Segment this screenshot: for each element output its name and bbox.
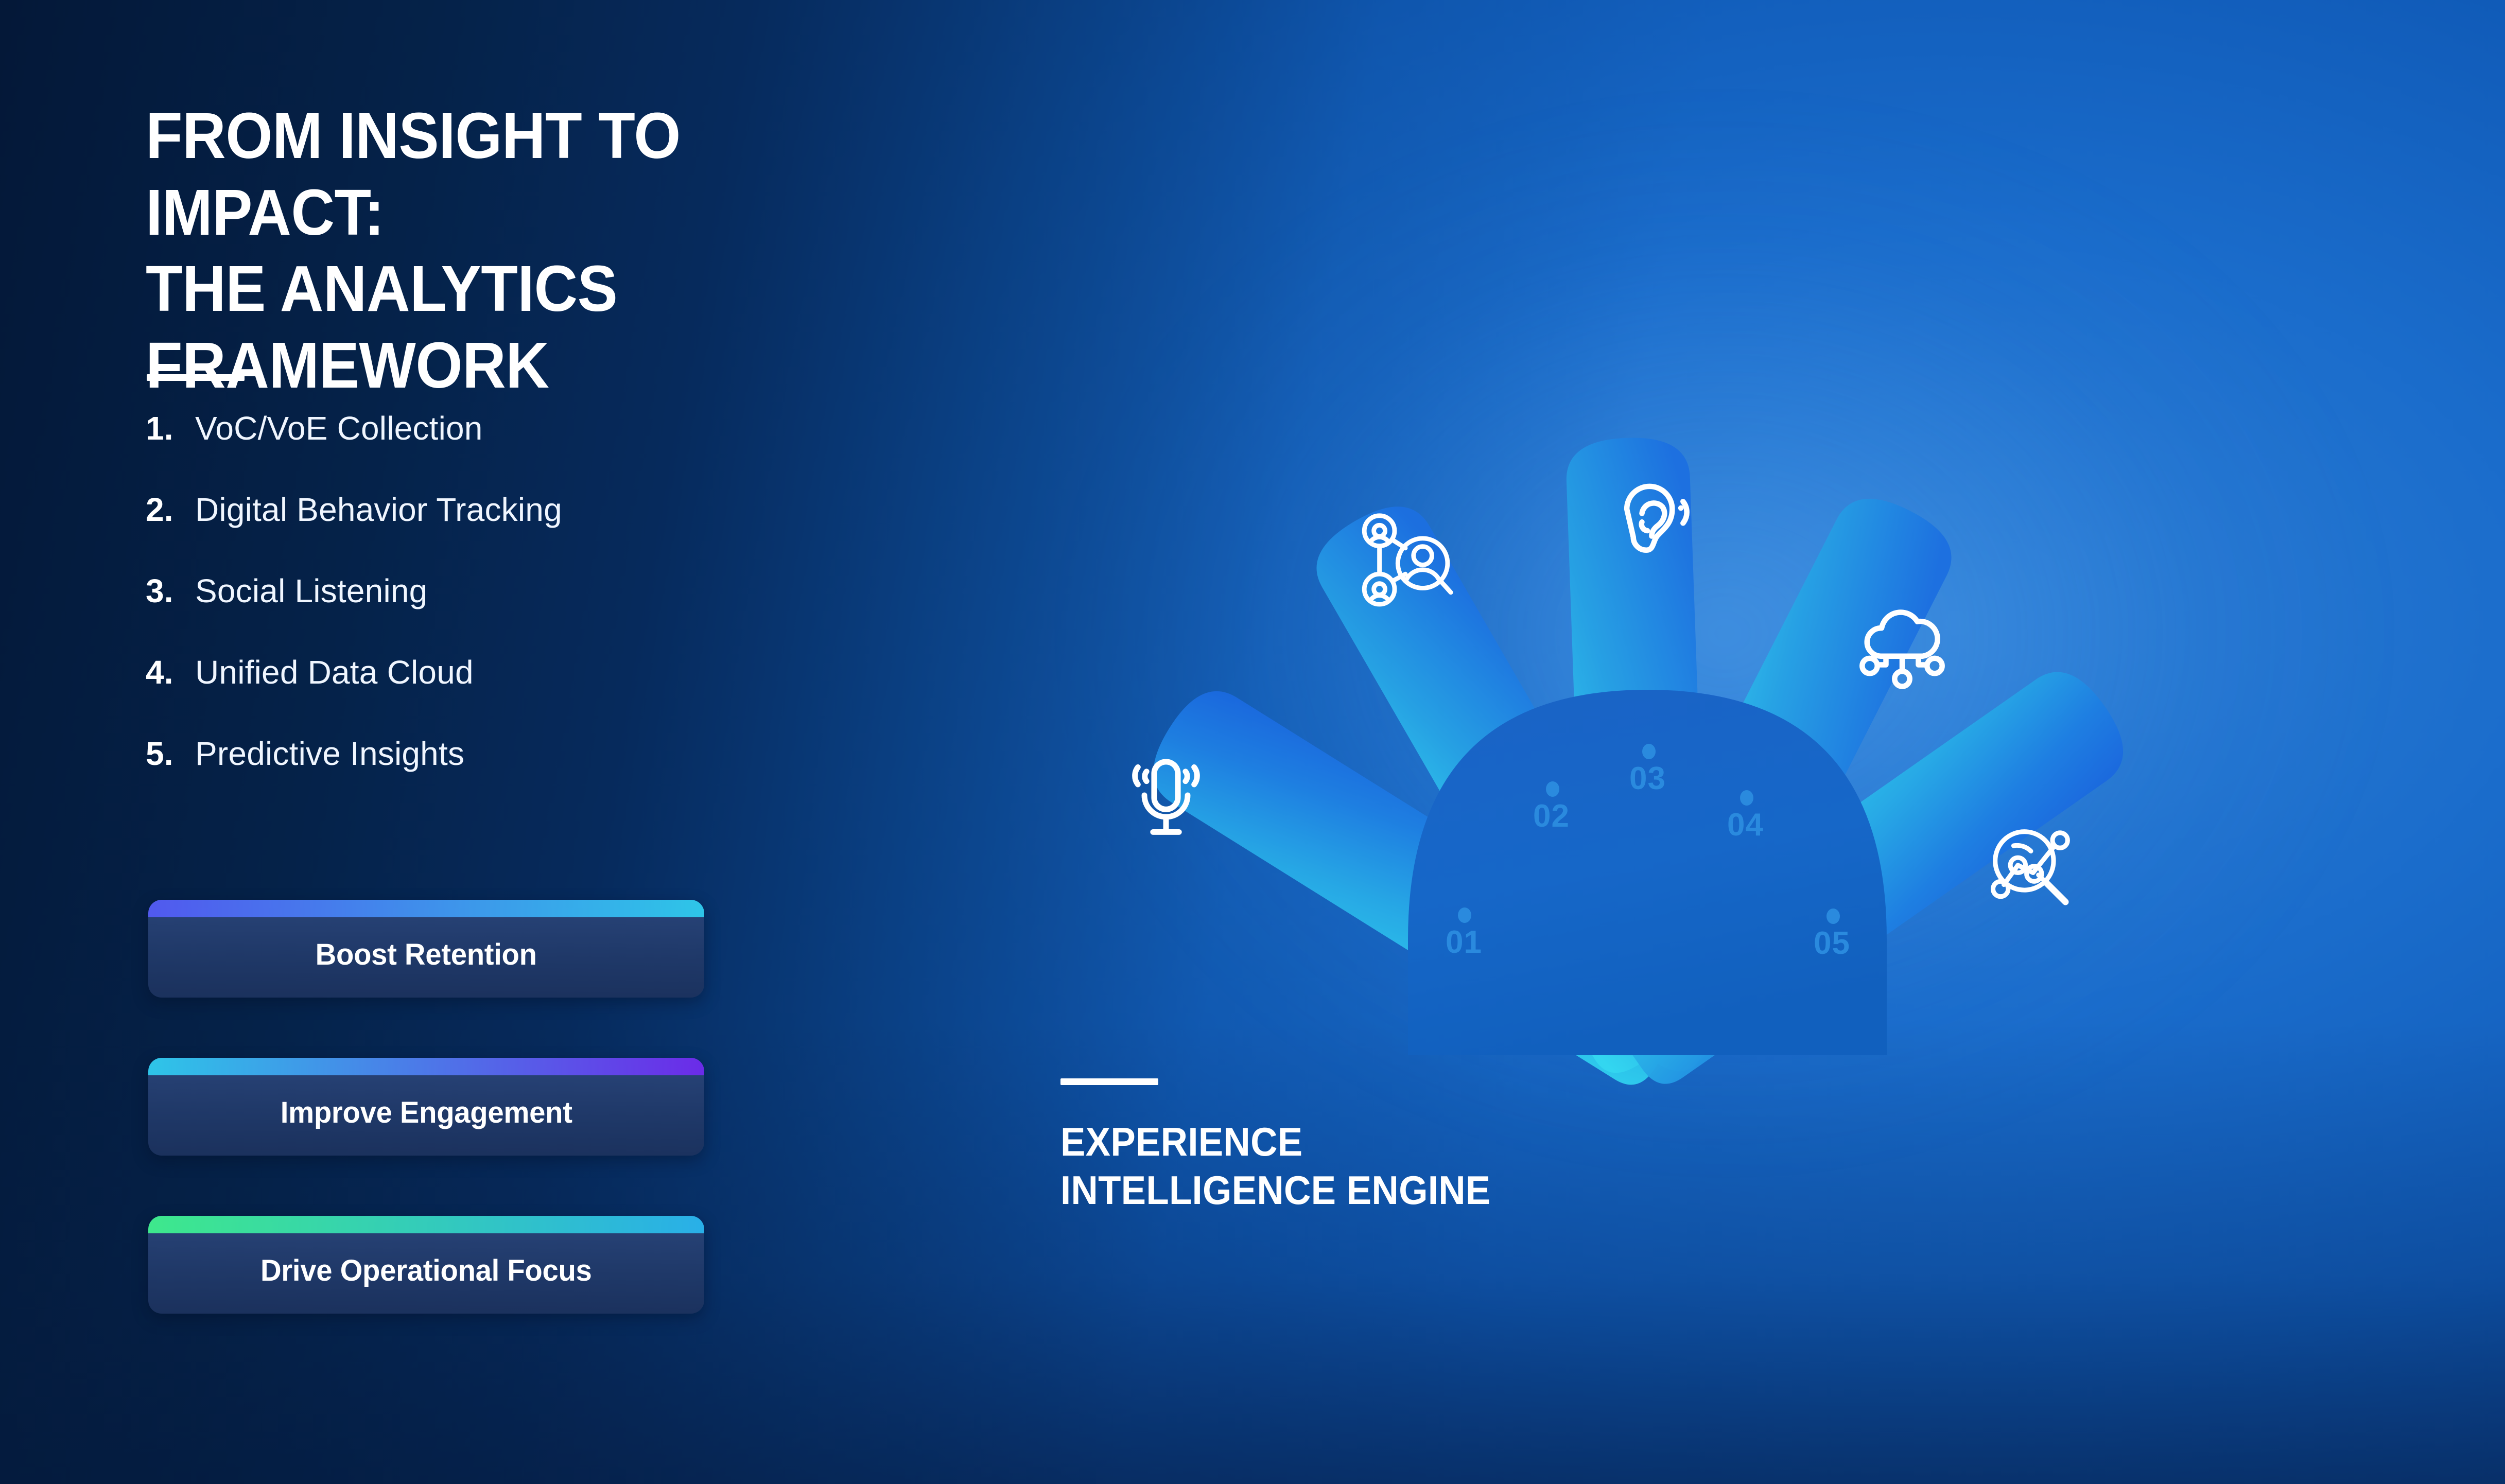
- segment-number-05: 05: [1814, 925, 1850, 962]
- card-drive-operational-focus[interactable]: Drive Operational Focus: [148, 1216, 704, 1314]
- list-item-label: Predictive Insights: [195, 735, 464, 773]
- list-item-number: 1.: [146, 409, 186, 447]
- list-item-label: Digital Behavior Tracking: [195, 491, 562, 529]
- card-accent-bar: [148, 1216, 704, 1233]
- diagram-caption: EXPERIENCE INTELLIGENCE ENGINE: [1060, 1078, 1523, 1214]
- fan-petals-svg: [978, 335, 2317, 1081]
- diagram-caption-title: EXPERIENCE INTELLIGENCE ENGINE: [1060, 1118, 1491, 1214]
- outcome-cards: Boost Retention Improve Engagement Drive…: [148, 900, 704, 1374]
- segment-dot-01: [1458, 907, 1471, 923]
- page-title: FROM INSIGHT TO IMPACT: THE ANALYTICS FR…: [146, 98, 864, 404]
- accent-rule-list: [147, 374, 245, 381]
- accent-rule-caption: [1060, 1078, 1158, 1085]
- card-label: Boost Retention: [316, 937, 537, 972]
- segment-number-02: 02: [1533, 798, 1570, 834]
- card-label: Drive Operational Focus: [260, 1253, 592, 1288]
- segment-dot-02: [1546, 781, 1559, 797]
- list-item: 3. Social Listening: [146, 572, 815, 653]
- card-accent-bar: [148, 900, 704, 917]
- card-label: Improve Engagement: [281, 1095, 572, 1130]
- segment-number-04: 04: [1727, 807, 1764, 843]
- segment-number-01: 01: [1446, 924, 1482, 961]
- card-accent-bar: [148, 1058, 704, 1075]
- list-item: 4. Unified Data Cloud: [146, 653, 815, 735]
- segment-number-03: 03: [1629, 760, 1666, 797]
- segment-dot-04: [1740, 790, 1753, 806]
- card-boost-retention[interactable]: Boost Retention: [148, 900, 704, 998]
- card-improve-engagement[interactable]: Improve Engagement: [148, 1058, 704, 1156]
- list-item-label: Unified Data Cloud: [195, 653, 474, 691]
- list-item-number: 4.: [146, 653, 186, 691]
- list-item-number: 3.: [146, 572, 186, 610]
- list-item: 5. Predictive Insights: [146, 735, 815, 816]
- segment-dot-05: [1826, 909, 1840, 924]
- segment-dot-03: [1642, 744, 1656, 759]
- experience-intelligence-fan-diagram: 01 02 03 04 05: [978, 335, 2317, 1081]
- list-item-number: 2.: [146, 491, 186, 529]
- list-item: 2. Digital Behavior Tracking: [146, 491, 815, 572]
- list-item-label: Social Listening: [195, 572, 427, 610]
- steps-list: 1. VoC/VoE Collection 2. Digital Behavio…: [146, 409, 815, 816]
- list-item-number: 5.: [146, 735, 186, 773]
- list-item: 1. VoC/VoE Collection: [146, 409, 815, 491]
- list-item-label: VoC/VoE Collection: [195, 409, 483, 447]
